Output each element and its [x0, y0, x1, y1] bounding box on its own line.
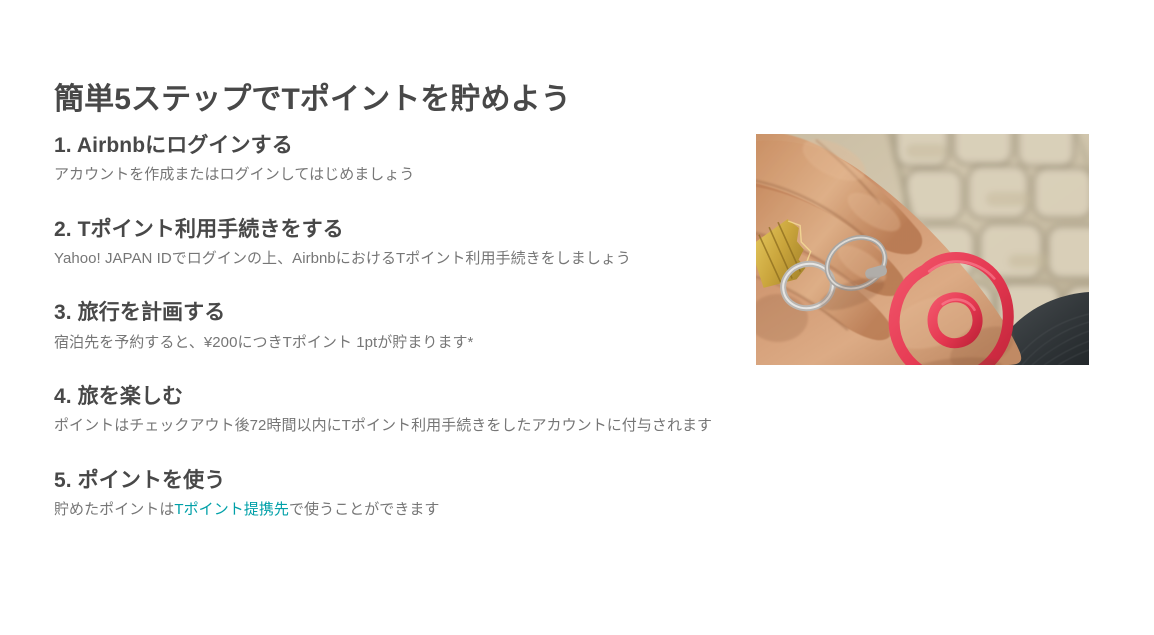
step-4-title: 4. 旅を楽しむ	[54, 382, 746, 411]
step-item-4: 4. 旅を楽しむ ポイントはチェックアウト後72時間以内にTポイント利用手続きを…	[54, 382, 746, 439]
page-title: 簡単5ステップでTポイントを貯めよう	[54, 80, 571, 121]
step-1-title: 1. Airbnbにログインする	[54, 131, 746, 160]
step-5-title: 5. ポイントを使う	[54, 466, 746, 495]
step-3-description: 宿泊先を予約すると、¥200につきTポイント 1ptが貯まります*	[54, 331, 746, 355]
airbnb-keychain-photo	[756, 134, 1089, 365]
steps-list: 1. Airbnbにログインする アカウントを作成またはログインしてはじめましょ…	[54, 131, 746, 522]
step-item-2: 2. Tポイント利用手続きをする Yahoo! JAPAN IDでログインの上、…	[54, 215, 746, 272]
step-item-3: 3. 旅行を計画する 宿泊先を予約すると、¥200につきTポイント 1ptが貯ま…	[54, 298, 746, 355]
step-5-description-prefix: 貯めたポイントは	[54, 501, 174, 518]
step-2-title: 2. Tポイント利用手続きをする	[54, 215, 746, 244]
step-4-description: ポイントはチェックアウト後72時間以内にTポイント利用手続きをしたアカウントに付…	[54, 414, 746, 438]
step-5-description: 貯めたポイントはTポイント提携先で使うことができます	[54, 498, 746, 522]
step-2-description: Yahoo! JAPAN IDでログインの上、AirbnbにおけるTポイント利用…	[54, 247, 746, 271]
step-item-5: 5. ポイントを使う 貯めたポイントはTポイント提携先で使うことができます	[54, 466, 746, 523]
airbnb-keychain-illustration	[756, 134, 1089, 365]
step-3-title: 3. 旅行を計画する	[54, 298, 746, 327]
step-5-description-suffix: で使うことができます	[289, 501, 440, 518]
t-point-partners-link[interactable]: Tポイント提携先	[174, 501, 289, 518]
step-item-1: 1. Airbnbにログインする アカウントを作成またはログインしてはじめましょ…	[54, 131, 746, 188]
page-root: 簡単5ステップでTポイントを貯めよう 1. Airbnbにログインする アカウン…	[0, 0, 1154, 635]
step-1-description: アカウントを作成またはログインしてはじめましょう	[54, 163, 746, 187]
